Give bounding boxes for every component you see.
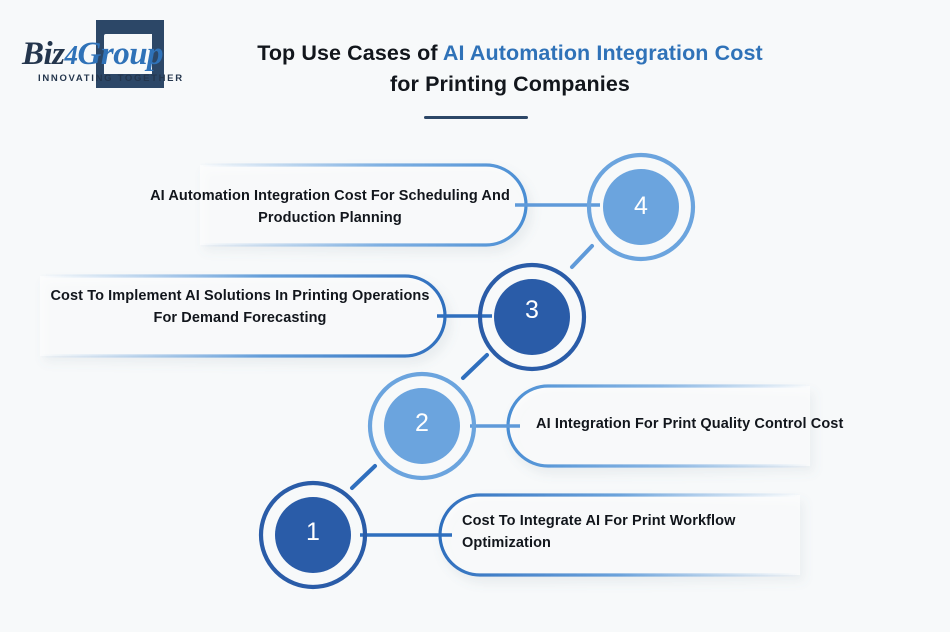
step-number-3: 3: [499, 296, 565, 325]
item-label-3: Cost To Implement AI Solutions In Printi…: [50, 285, 430, 329]
step-number-2: 2: [389, 409, 455, 438]
item-label-2: AI Integration For Print Quality Control…: [536, 413, 936, 435]
logo-word-four: 4: [65, 40, 78, 70]
connector-circle-1-to-2: [352, 466, 375, 488]
item-label-1: Cost To Integrate AI For Print Workflow …: [462, 510, 812, 554]
step-number-4: 4: [608, 192, 674, 221]
infographic-canvas: Biz4Group INNOVATING TOGETHER Top Use Ca…: [0, 0, 950, 632]
logo-wordmark: Biz4Group: [22, 36, 163, 73]
logo-word-biz: Biz: [22, 36, 65, 72]
connector-circle-2-to-3: [463, 355, 487, 378]
connector-circle-3-to-4: [572, 246, 592, 267]
logo-word-group: Group: [78, 36, 164, 72]
logo-tagline: INNOVATING TOGETHER: [38, 73, 184, 84]
item-label-4: AI Automation Integration Cost For Sched…: [150, 185, 510, 229]
step-number-1: 1: [280, 518, 346, 547]
